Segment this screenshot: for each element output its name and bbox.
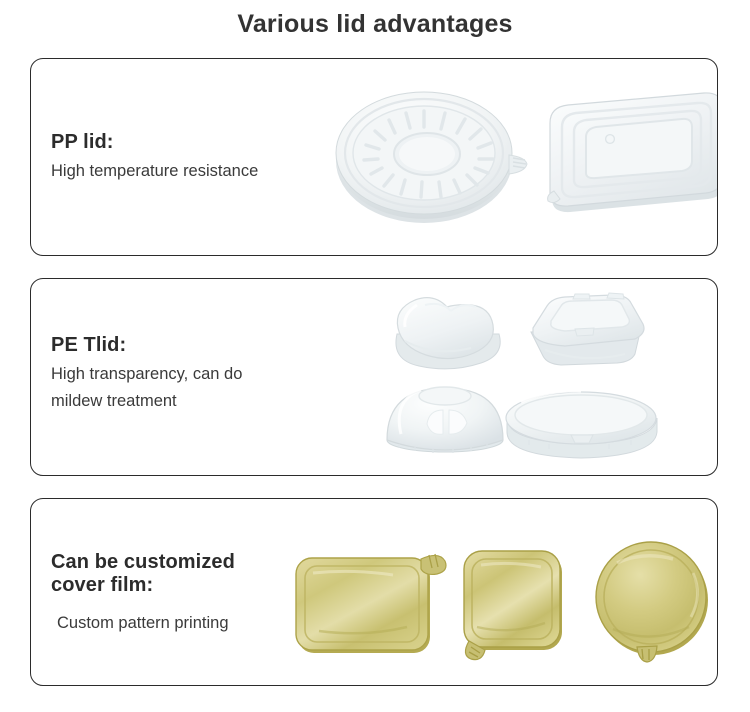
- square-pe-lid-image: [521, 284, 651, 379]
- rectangular-gold-foil-lid-image: [269, 543, 449, 663]
- pe-lid-description-line1: High transparency, can do: [51, 362, 341, 387]
- round-gold-foil-lid-image: [587, 537, 718, 667]
- pe-lid-text-block: PE Tlid: High transparency, can do milde…: [51, 334, 341, 414]
- pe-lid-description-line2: mildew treatment: [51, 389, 341, 414]
- infographic-page: Various lid advantages PP lid: High temp…: [0, 0, 750, 712]
- pp-lid-description: High temperature resistance: [51, 159, 341, 184]
- pp-lid-heading: PP lid:: [51, 131, 341, 154]
- oval-pe-lid-image: [499, 382, 664, 457]
- round-pp-lid-image: [331, 81, 531, 231]
- heart-shaped-pe-lid-image: [381, 287, 516, 382]
- rectangular-pp-lid-image: [518, 79, 718, 229]
- square-gold-foil-lid-image: [449, 541, 574, 666]
- pp-lid-text-block: PP lid: High temperature resistance: [51, 131, 341, 184]
- card-pp-lid: PP lid: High temperature resistance: [30, 58, 718, 256]
- pe-lid-heading: PE Tlid:: [51, 334, 341, 357]
- card-cover-film: Can be customized cover film: Custom pat…: [30, 498, 718, 686]
- dome-pe-lid-image: [379, 374, 514, 459]
- card-pe-lid: PE Tlid: High transparency, can do milde…: [30, 278, 718, 476]
- page-title: Various lid advantages: [0, 10, 750, 39]
